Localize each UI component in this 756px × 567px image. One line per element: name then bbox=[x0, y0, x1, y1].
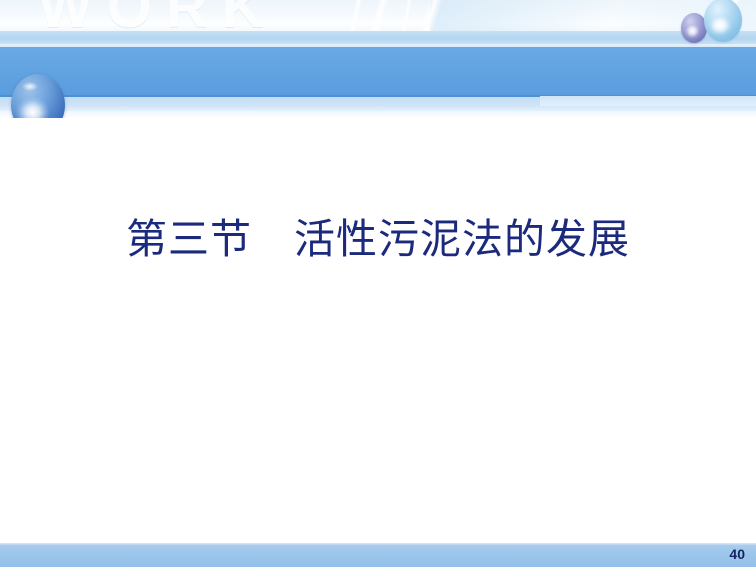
slide-header-decoration: WORK bbox=[0, 0, 756, 118]
presentation-slide: WORK 第三节 活性污泥法的发展 40 bbox=[0, 0, 756, 567]
decorative-blue-sphere-highlight bbox=[22, 82, 38, 91]
header-lower-band-step bbox=[540, 96, 756, 106]
decorative-cyan-sphere bbox=[704, 0, 742, 42]
slide-content-area: 第三节 活性污泥法的发展 bbox=[0, 118, 756, 545]
slide-title: 第三节 活性污泥法的发展 bbox=[0, 215, 756, 263]
header-lower-band-fade bbox=[0, 111, 756, 118]
page-number: 40 bbox=[729, 546, 745, 562]
footer-bar bbox=[0, 545, 756, 567]
header-main-blue-band bbox=[0, 47, 756, 96]
